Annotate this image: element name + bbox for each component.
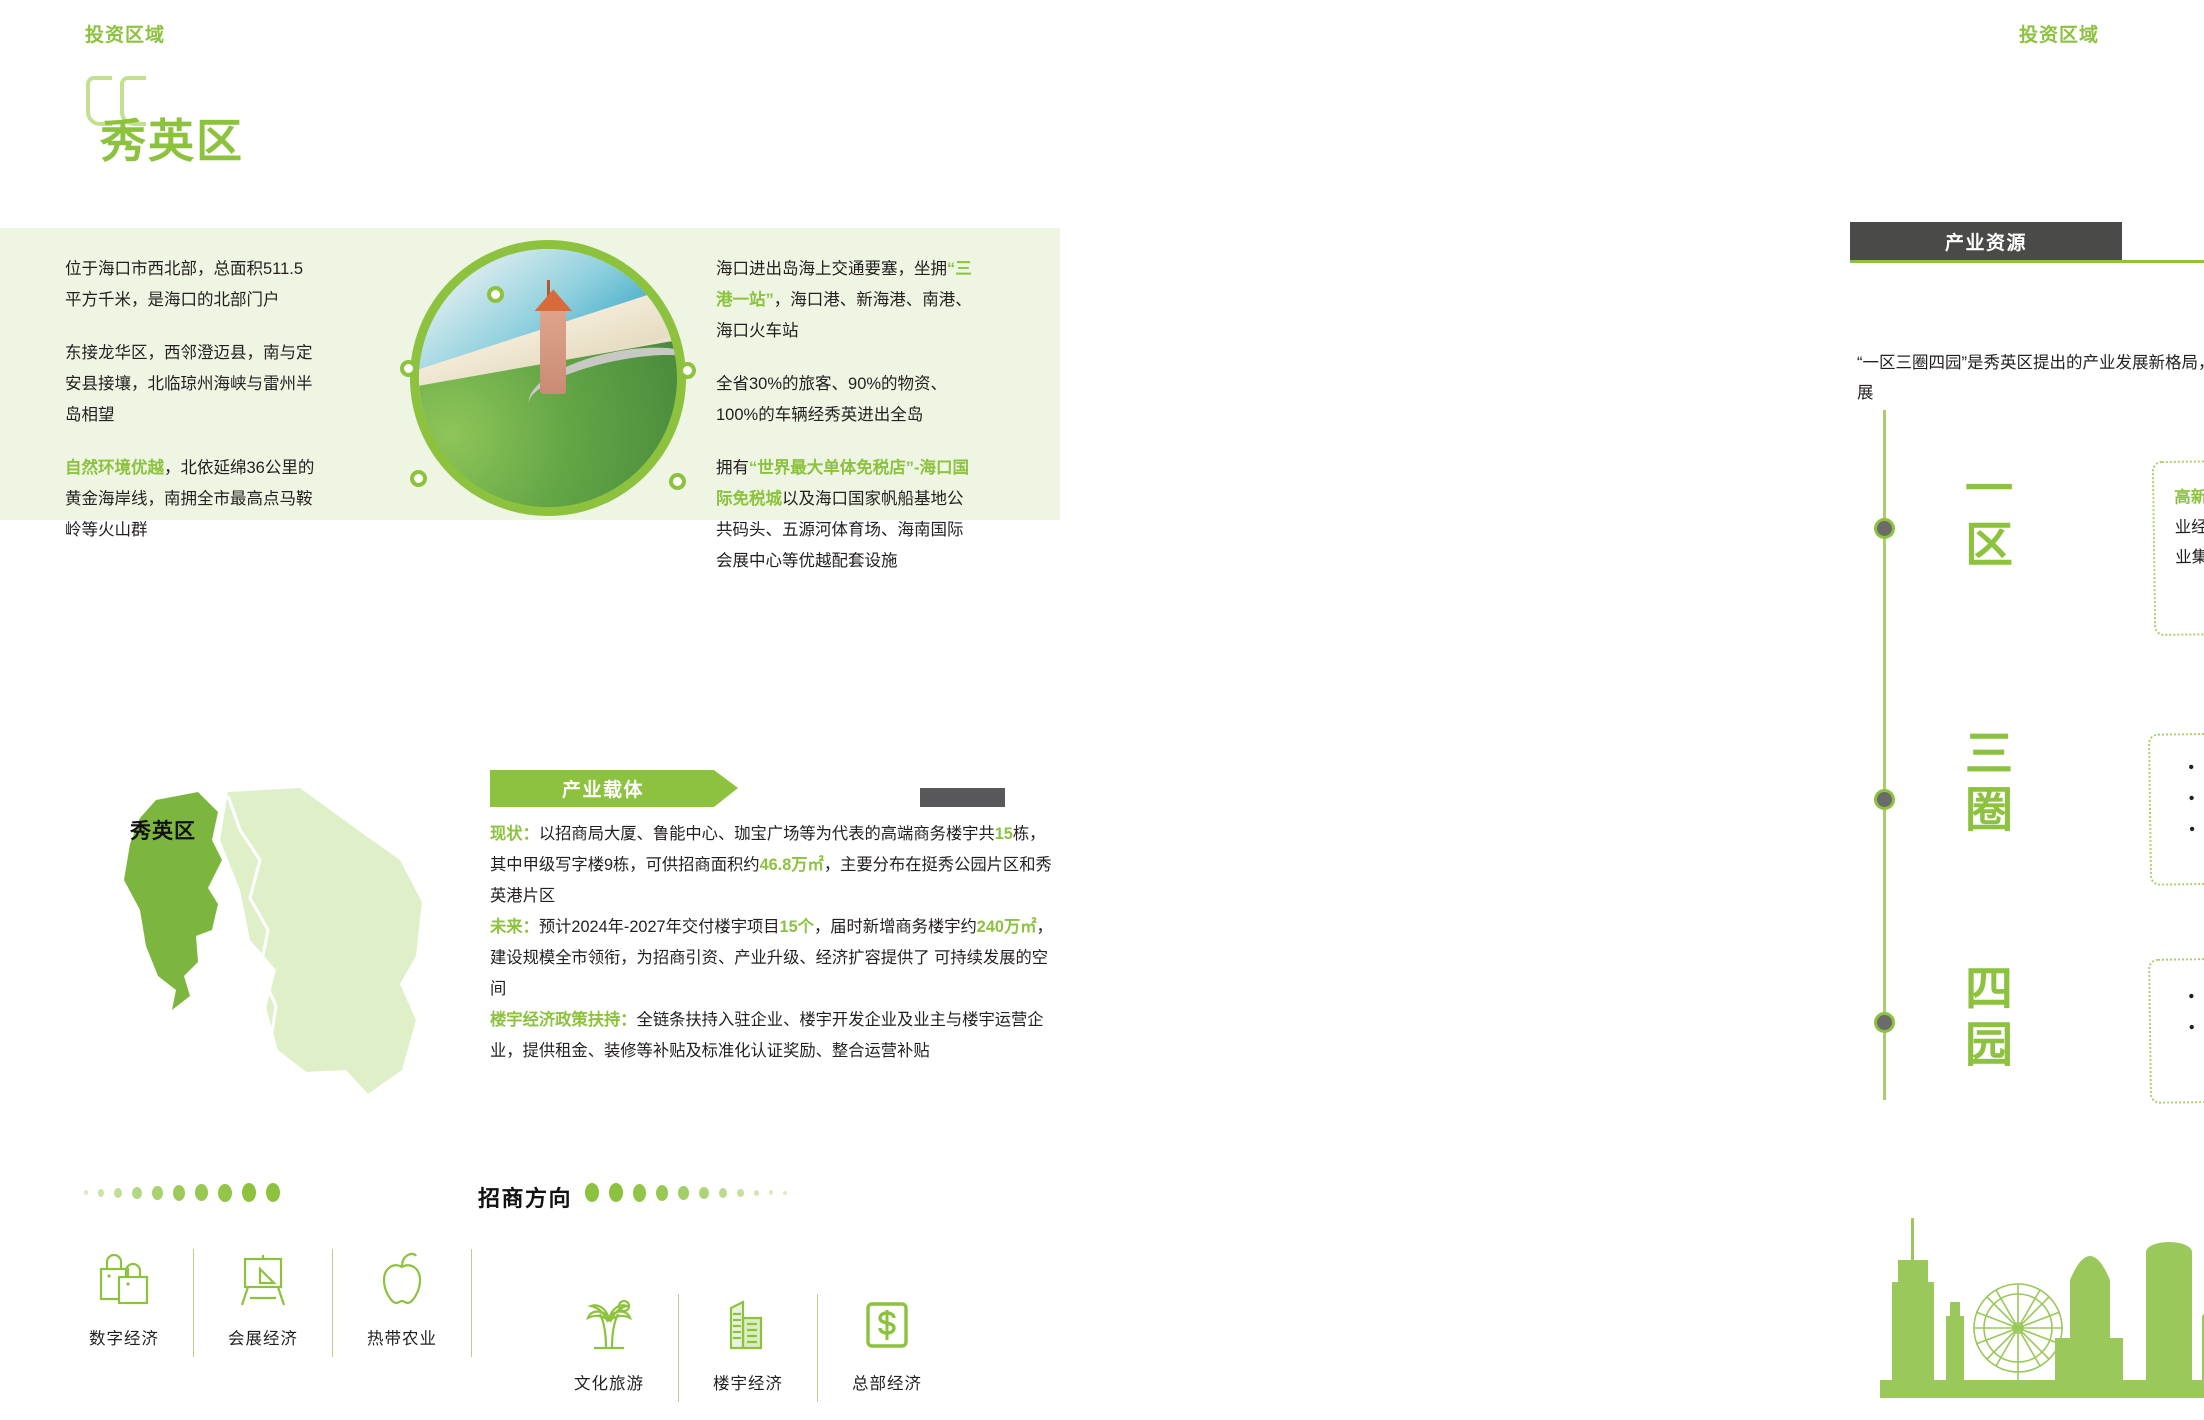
direction-item-building-economy[interactable]: 楼宇经济 <box>679 1290 817 1394</box>
group-bullet-list: 挺秀公园国企区域总部商务圈西海岸南片区CBD商业圈秀英港区域经济商业圈 <box>2150 730 2204 847</box>
group-four-parks: 四 园 复兴城国际数字港未来产业园 五源河创新产业中心新海陆岛物流园 <box>1953 940 2204 1140</box>
plain-text: 全省30%的旅客、90%的物资、100%的车辆经秀英进出全岛 <box>716 375 947 424</box>
photo-node-left <box>400 360 417 377</box>
highlight-text: 现状： <box>490 825 539 843</box>
plain-text: 东接龙华区，西邻澄迈县，南与定安县接壤，北临琼州海峡与雷州半岛相望 <box>65 344 313 424</box>
direction-label: 会展经济 <box>228 1325 298 1349</box>
shopping-bag-icon <box>93 1245 155 1315</box>
industrial-carrier-block: 产业载体 现状：以招商局大厦、鲁能中心、珈宝广场等为代表的高端商务楼宇共15栋，… <box>490 770 1060 1067</box>
highlight-text: 自然环境优越 <box>65 459 164 477</box>
plain-text: ，届时新增商务楼宇约 <box>814 918 977 936</box>
left-page: 投资区域 秀英区 秀英区概况 位于海口市西北部，总面积511.5平方千米，是海口… <box>0 0 1105 1415</box>
map-label: 秀英区 <box>130 815 196 845</box>
list-item: 秀英港区域经济商业圈 <box>2185 810 2204 846</box>
direction-item-headquarters-economy[interactable]: 总部经济 <box>818 1290 956 1394</box>
list-item: 西海岸南片区CBD商业圈 <box>2185 779 2204 815</box>
directions-icon-row-1: 数字经济 会展经济 热带农 <box>55 1245 472 1357</box>
list-item: 复兴城国际数字港 <box>2184 980 2204 1013</box>
running-head-left: 投资区域 <box>85 20 165 47</box>
carrier-heading-label: 产业载体 <box>562 775 644 802</box>
carrier-heading-accent <box>920 788 1005 807</box>
resources-heading-bar: 产业资源 <box>1850 222 2122 260</box>
district-photo <box>410 240 686 516</box>
right-page: 投资区域 产业资源 “一区三圈四园”是秀英区提出的产业发展新格局，旨在深化产城融… <box>1105 0 2204 1415</box>
map-other-districts <box>220 788 422 1094</box>
highlight-text: 楼宇经济政策扶持： <box>490 1011 637 1029</box>
direction-label: 数字经济 <box>89 1325 159 1349</box>
direction-item-culture-tourism[interactable]: 文化旅游 <box>540 1290 678 1394</box>
decor-dots-left <box>84 1183 280 1202</box>
paragraph: 未来：预计2024年-2027年交付楼宇项目15个，届时新增商务楼宇约240万㎡… <box>490 912 1060 1005</box>
paragraph: 东接龙华区，西邻澄迈县，南与定安县接壤，北临琼州海峡与雷州半岛相望 <box>65 338 315 431</box>
photo-node-bottomleft <box>410 470 427 487</box>
buildings-icon <box>717 1290 779 1360</box>
carrier-body-text: 现状：以招商局大厦、鲁能中心、珈宝广场等为代表的高端商务楼宇共15栋，其中甲级写… <box>490 819 1060 1067</box>
photo-node-right <box>679 362 696 379</box>
list-item: 未来产业园 <box>2185 1011 2204 1044</box>
icon-divider <box>471 1249 472 1357</box>
group-char: 三 圈 <box>1953 727 2025 839</box>
paragraph: 楼宇经济政策扶持：全链条扶持入驻企业、楼宇开发企业及业主与楼宇运营企业，提供租金… <box>490 1005 1060 1067</box>
paragraph: 现状：以招商局大厦、鲁能中心、珈宝广场等为代表的高端商务楼宇共15栋，其中甲级写… <box>490 819 1060 912</box>
direction-item-tropical-agriculture[interactable]: 热带农业 <box>333 1245 471 1349</box>
resources-heading-underline <box>1850 260 2204 263</box>
skyline-illustration <box>1850 1120 2204 1415</box>
plain-text: 拥有 <box>716 459 749 477</box>
highlight-text: 15 <box>995 825 1013 843</box>
group-three-circles: 三 圈 挺秀公园国企区域总部商务圈西海岸南片区CBD商业圈秀英港区域经济商业圈 <box>1953 715 2204 945</box>
paragraph: 全省30%的旅客、90%的物资、100%的车辆经秀英进出全岛 <box>716 369 976 431</box>
paragraph: 海口进出岛海上交通要塞，坐拥“三港一站”，海口港、新海港、南港、海口火车站 <box>716 254 976 347</box>
direction-item-exhibition-economy[interactable]: 会展经济 <box>194 1245 332 1349</box>
group-char: 一 区 <box>1953 462 2025 574</box>
overview-text-right: 海口进出岛海上交通要塞，坐拥“三港一站”，海口港、新海港、南港、海口火车站全省3… <box>716 254 976 577</box>
photo-node-top <box>487 286 504 303</box>
running-head-right: 投资区域 <box>2019 20 2099 47</box>
timeline-axis <box>1883 410 1886 1100</box>
direction-label: 楼宇经济 <box>713 1370 783 1394</box>
skyline-svg <box>1850 1120 2204 1415</box>
group-char: 四 园 <box>1953 962 2025 1074</box>
direction-label: 热带农业 <box>367 1325 437 1349</box>
group-body-text: 高新区：工业经济占海口市工业经济半壁江山，生物医药产业集聚效应明显 <box>2174 480 2204 576</box>
palm-tree-icon <box>578 1290 640 1360</box>
directions-icon-row-2: 文化旅游 楼宇经济 总部经 <box>540 1290 956 1402</box>
highlight-text: 高新区： <box>2174 488 2204 507</box>
paragraph: 自然环境优越，北依延绵36公里的黄金海岸线，南拥全市最高点马鞍岭等火山群 <box>65 453 315 546</box>
resources-description: “一区三圈四园”是秀英区提出的产业发展新格局，旨在深化产城融合，推动区域经济高质… <box>1857 348 2204 408</box>
page-title: 秀英区 <box>100 105 244 171</box>
overview-text-left: 位于海口市西北部，总面积511.5平方千米，是海口的北部门户东接龙华区，西邻澄迈… <box>65 254 315 546</box>
decor-dots-right <box>585 1183 787 1202</box>
timeline-node-1 <box>1874 518 1895 539</box>
list-item: 挺秀公园国企区域总部商务圈 <box>2184 748 2204 784</box>
group-dashbox: 挺秀公园国企区域总部商务圈西海岸南片区CBD商业圈秀英港区域经济商业圈 <box>2148 728 2204 886</box>
photo-node-bottomright <box>669 473 686 490</box>
plain-text: 海口进出岛海上交通要塞，坐拥 <box>716 260 947 278</box>
photo-clock-tower <box>540 308 566 394</box>
paragraph: 拥有“世界最大单体免税店”-海口国际免税城以及海口国家帆船基地公共码头、五源河体… <box>716 453 976 577</box>
direction-label: 总部经济 <box>852 1370 922 1394</box>
resources-heading-label: 产业资源 <box>1945 228 2027 255</box>
carrier-heading-bar: 产业载体 <box>490 770 738 807</box>
plain-text: 位于海口市西北部，总面积511.5平方千米，是海口的北部门户 <box>65 260 303 309</box>
group-dashbox: 高新区：工业经济占海口市工业经济半壁江山，生物医药产业集聚效应明显 药谷工业园美… <box>2152 455 2204 636</box>
carrier-heading: 产业载体 <box>490 770 1060 810</box>
group-bullet-list-col1: 复兴城国际数字港未来产业园 <box>2184 980 2204 1044</box>
easel-board-icon <box>232 1245 294 1315</box>
directions-title: 招商方向 <box>478 1181 572 1213</box>
apple-icon <box>371 1245 433 1315</box>
plain-text: 预计2024年-2027年交付楼宇项目 <box>539 918 780 936</box>
dollar-square-icon <box>856 1290 918 1360</box>
paragraph: 位于海口市西北部，总面积511.5平方千米，是海口的北部门户 <box>65 254 315 316</box>
direction-item-digital-economy[interactable]: 数字经济 <box>55 1245 193 1349</box>
plain-text: 以招商局大厦、鲁能中心、珈宝广场等为代表的高端商务楼宇共 <box>539 825 995 843</box>
highlight-text: 46.8万㎡ <box>760 856 824 874</box>
highlight-text: 未来： <box>490 918 539 936</box>
direction-label: 文化旅游 <box>574 1370 644 1394</box>
highlight-text: 15个 <box>780 918 814 936</box>
group-dashbox: 复兴城国际数字港未来产业园 五源河创新产业中心新海陆岛物流园 <box>2148 953 2204 1104</box>
group-one-district: 一 区 高新区：工业经济占海口市工业经济半壁江山，生物医药产业集聚效应明显 药谷… <box>1953 440 2204 690</box>
highlight-text: 240万㎡ <box>977 918 1037 936</box>
timeline-node-3 <box>1874 1012 1895 1033</box>
timeline-node-2 <box>1874 789 1895 810</box>
